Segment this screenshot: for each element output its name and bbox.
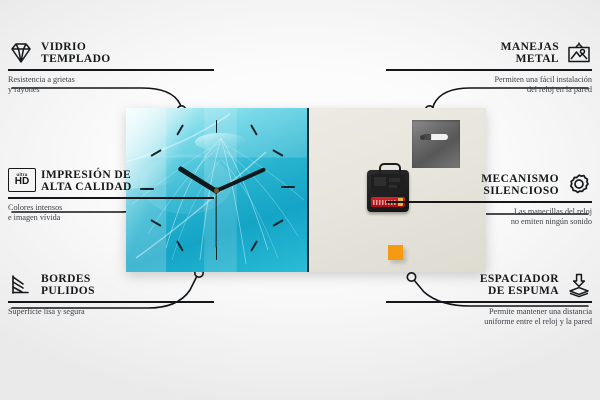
foam-spacer [388, 245, 403, 260]
feature-title: IMPRESIÓN DE ALTA CALIDAD [41, 169, 132, 194]
hanger-slot [422, 134, 448, 140]
feature-description: Resistencia a grietas y rayones [8, 75, 214, 96]
clock-center-hub [214, 188, 219, 193]
feature-header: MECANISMO SILENCIOSO [386, 172, 592, 198]
feature-vidrio-templado: VIDRIO TEMPLADO Resistencia a grietas y … [8, 40, 214, 96]
feature-title: MANEJAS METAL [501, 41, 559, 66]
feature-divider [8, 301, 214, 303]
feature-title: VIDRIO TEMPLADO [41, 41, 111, 66]
feature-manejas-metal: MANEJAS METAL Permiten una fácil instala… [386, 40, 592, 96]
feature-header: VIDRIO TEMPLADO [8, 40, 214, 66]
metal-hanger-plate [412, 120, 460, 168]
hanger-hole [420, 135, 425, 140]
feature-divider [386, 301, 592, 303]
feature-divider [386, 69, 592, 71]
feature-header: ESPACIADOR DE ESPUMA [386, 272, 592, 298]
feature-description: Permite mantener una distancia uniforme … [386, 307, 592, 328]
ultra-hd-icon: ultra HD [8, 168, 34, 194]
feature-header: BORDES PULIDOS [8, 272, 214, 298]
feature-header: MANEJAS METAL [386, 40, 592, 66]
feature-espaciador-espuma: ESPACIADOR DE ESPUMA Permite mantener un… [386, 272, 592, 328]
down-arrow-foam-icon [566, 272, 592, 298]
hanging-frame-icon [566, 40, 592, 66]
diamond-icon [8, 40, 34, 66]
feature-description: Colores intensos e imagen vívida [8, 203, 214, 224]
feature-divider [8, 197, 214, 199]
gear-icon [566, 172, 592, 198]
ultra-hd-box: ultra HD [8, 168, 36, 192]
feature-divider [8, 69, 214, 71]
feature-header: ultra HD IMPRESIÓN DE ALTA CALIDAD [8, 168, 214, 194]
feature-title: BORDES PULIDOS [41, 273, 95, 298]
feature-impresion-alta-calidad: ultra HD IMPRESIÓN DE ALTA CALIDAD Color… [8, 168, 214, 224]
feature-title: ESPACIADOR DE ESPUMA [480, 273, 559, 298]
feature-description: Las manecillas del reloj no emiten ningú… [386, 207, 592, 228]
feature-divider [386, 201, 592, 203]
infographic-canvas: VIDRIO TEMPLADO Resistencia a grietas y … [0, 0, 600, 400]
feature-bordes-pulidos: BORDES PULIDOS Superficie lisa y segura [8, 272, 214, 317]
feature-description: Permiten una fácil instalación del reloj… [386, 75, 592, 96]
feature-mecanismo-silencioso: MECANISMO SILENCIOSO Las manecillas del … [386, 172, 592, 228]
feature-title: MECANISMO SILENCIOSO [481, 173, 559, 198]
polished-edges-icon [8, 272, 34, 298]
feature-description: Superficie lisa y segura [8, 307, 214, 318]
